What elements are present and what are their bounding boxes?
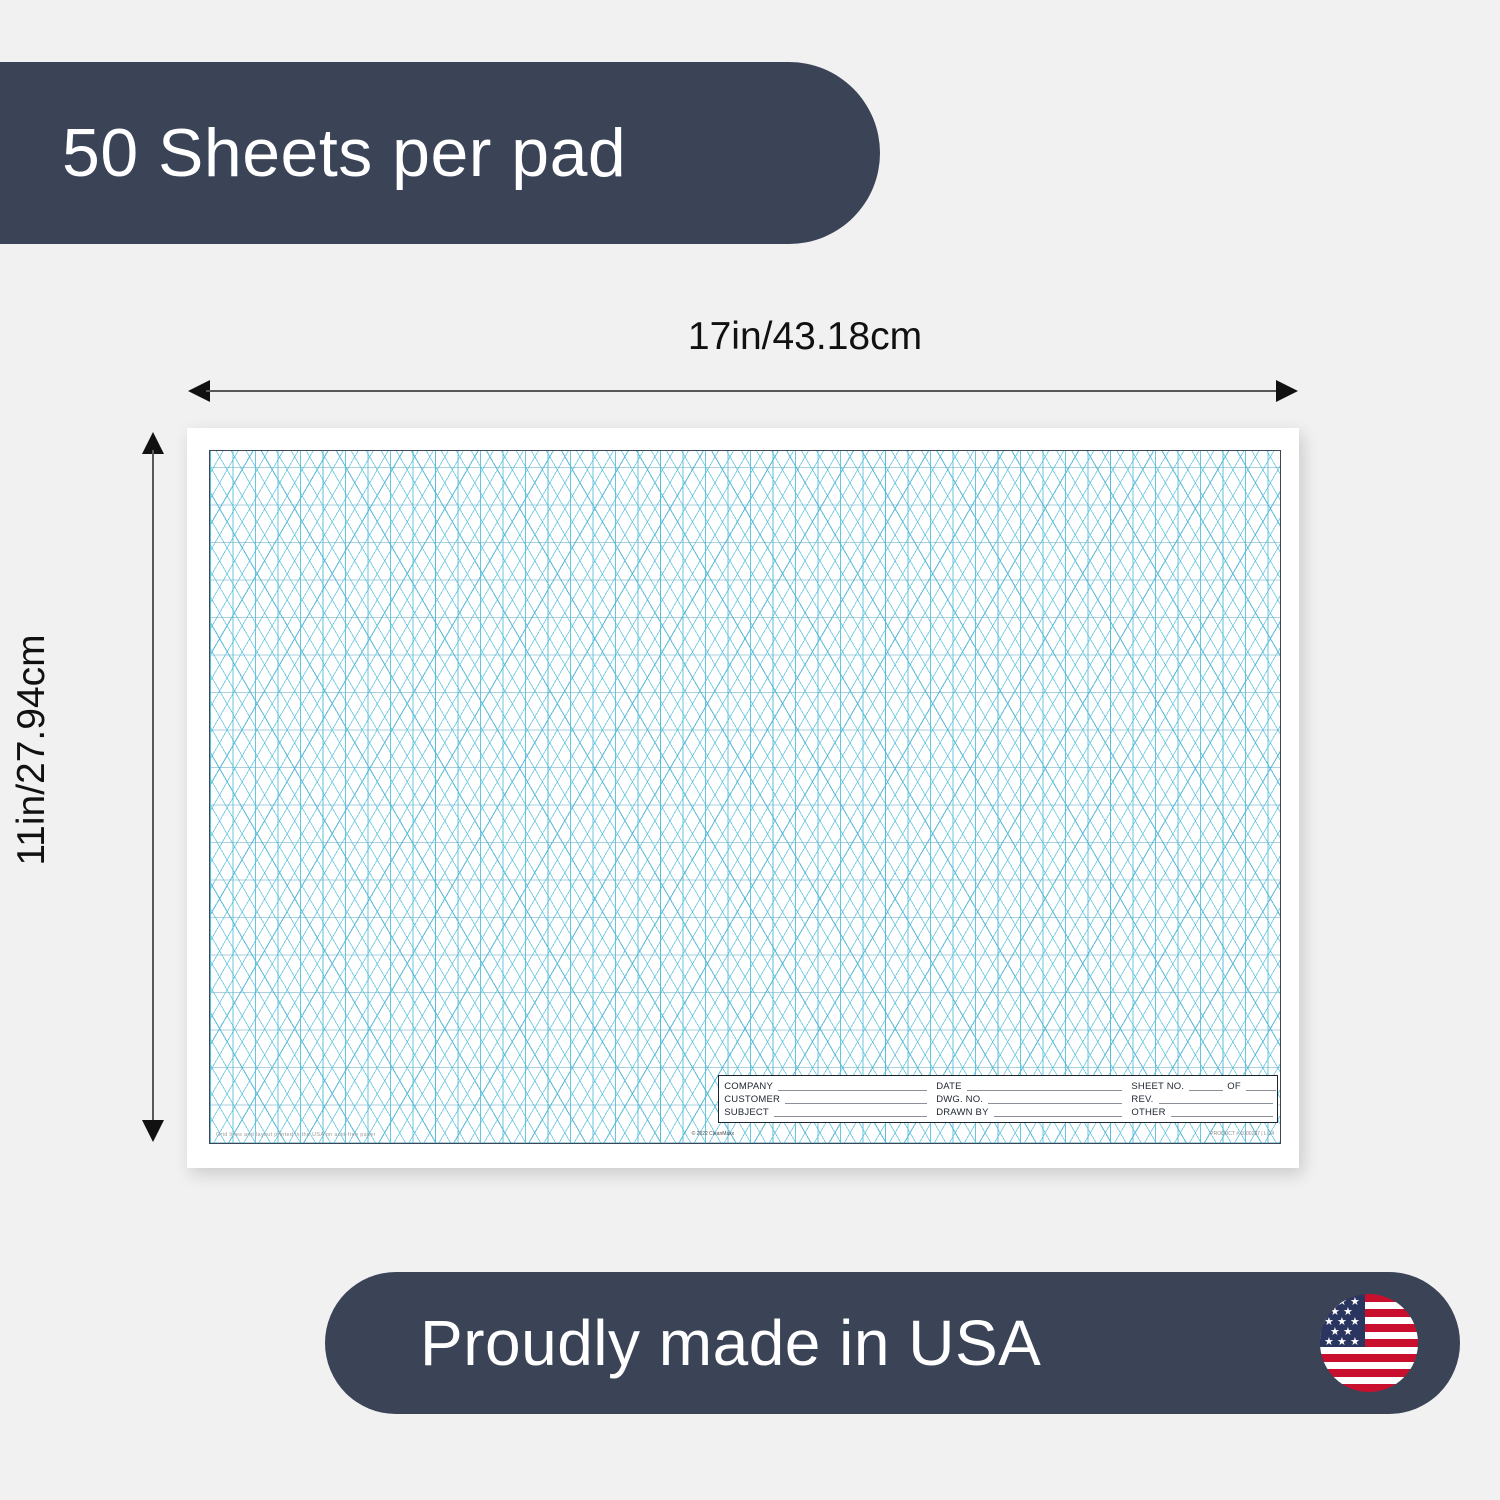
arrow-right-icon bbox=[1276, 380, 1298, 402]
title-block-row: COMPANY bbox=[724, 1080, 931, 1092]
field-label-sheet-no: SHEET NO. bbox=[1131, 1082, 1184, 1092]
dimension-bar bbox=[152, 450, 154, 1124]
top-banner-text: 50 Sheets per pad bbox=[62, 114, 626, 192]
height-dimension-line bbox=[142, 432, 164, 1142]
field-label-drawn-by: DRAWN BY bbox=[936, 1108, 988, 1118]
product-code-fineprint: PRODUCT # 1000287 | L-24 bbox=[1210, 1131, 1274, 1137]
paper-sheet: COMPANY CUSTOMER SUBJECT DATE bbox=[209, 450, 1281, 1144]
title-block: COMPANY CUSTOMER SUBJECT DATE bbox=[718, 1075, 1278, 1123]
write-in-line bbox=[988, 1094, 1122, 1104]
write-in-line bbox=[967, 1081, 1123, 1091]
title-block-row: REV. bbox=[1131, 1093, 1277, 1105]
paper-pad: COMPANY CUSTOMER SUBJECT DATE bbox=[187, 428, 1299, 1168]
title-block-column-1: COMPANY CUSTOMER SUBJECT bbox=[719, 1076, 931, 1122]
write-in-line bbox=[994, 1107, 1123, 1117]
bottom-banner: Proudly made in USA ★ ★ ★ ★ ★ ★ ★ ★ ★ ★ … bbox=[325, 1272, 1460, 1414]
manufacturing-fineprint: Grid lines and layout printed in the USA… bbox=[216, 1132, 376, 1138]
field-label-date: DATE bbox=[936, 1082, 961, 1092]
write-in-line bbox=[785, 1094, 927, 1104]
title-block-row: DRAWN BY bbox=[936, 1106, 1126, 1118]
width-dimension-label: 17in/43.18cm bbox=[0, 315, 1500, 359]
title-block-row: SHEET NO. OF bbox=[1131, 1080, 1277, 1092]
field-label-company: COMPANY bbox=[724, 1082, 773, 1092]
field-label-of: OF bbox=[1227, 1082, 1241, 1092]
flag-canton: ★ ★ ★ ★ ★ ★ ★ ★ ★ ★ ★ ★ ★ bbox=[1320, 1294, 1365, 1347]
usa-flag-circle-icon: ★ ★ ★ ★ ★ ★ ★ ★ ★ ★ ★ ★ ★ bbox=[1320, 1294, 1418, 1392]
title-block-column-2: DATE DWG. NO. DRAWN BY bbox=[931, 1076, 1126, 1122]
bottom-banner-text: Proudly made in USA bbox=[420, 1306, 1041, 1380]
field-label-other: OTHER bbox=[1131, 1108, 1165, 1118]
height-dimension-label: 11in/27.94cm bbox=[10, 500, 54, 1000]
title-block-row: SUBJECT bbox=[724, 1106, 931, 1118]
isometric-grid-pattern bbox=[210, 451, 1280, 1143]
title-block-column-3: SHEET NO. OF REV. OTHER bbox=[1126, 1076, 1277, 1122]
write-in-line bbox=[1159, 1094, 1273, 1104]
field-label-customer: CUSTOMER bbox=[724, 1095, 780, 1105]
write-in-line bbox=[778, 1081, 927, 1091]
title-block-row: OTHER bbox=[1131, 1106, 1277, 1118]
write-in-line bbox=[774, 1107, 927, 1117]
field-label-rev: REV. bbox=[1131, 1095, 1153, 1105]
copyright-fineprint: © 2022 CleanMaxx bbox=[692, 1131, 735, 1137]
write-in-line bbox=[1246, 1081, 1276, 1091]
write-in-line bbox=[1189, 1081, 1223, 1091]
arrow-down-icon bbox=[142, 1120, 164, 1142]
title-block-row: DWG. NO. bbox=[936, 1093, 1126, 1105]
field-label-subject: SUBJECT bbox=[724, 1108, 769, 1118]
field-label-dwg-no: DWG. NO. bbox=[936, 1095, 983, 1105]
write-in-line bbox=[1171, 1107, 1273, 1117]
width-dimension-line bbox=[188, 380, 1298, 402]
dimension-bar bbox=[206, 390, 1280, 392]
top-banner: 50 Sheets per pad bbox=[0, 62, 880, 244]
title-block-row: DATE bbox=[936, 1080, 1126, 1092]
title-block-row: CUSTOMER bbox=[724, 1093, 931, 1105]
